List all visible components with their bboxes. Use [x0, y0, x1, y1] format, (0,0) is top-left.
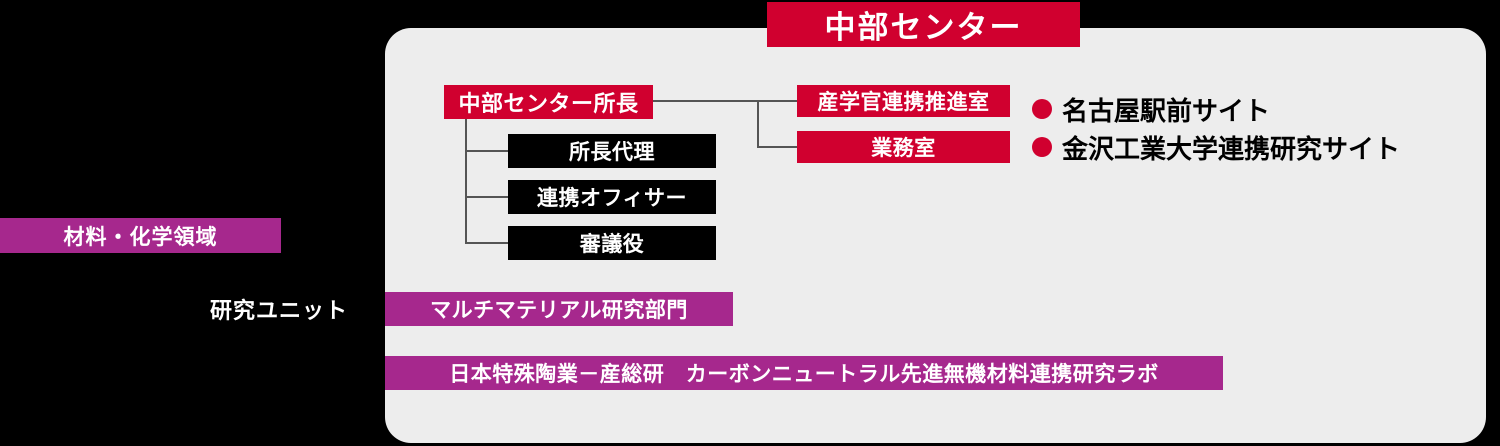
- unit-box-carbon-neutral-collaboration-lab[interactable]: 日本特殊陶業－産総研 カーボンニュートラル先進無機材料連携研究ラボ: [385, 356, 1223, 390]
- org-box-councillor[interactable]: 審議役: [508, 226, 716, 260]
- org-box-liaison-officer[interactable]: 連携オフィサー: [508, 180, 716, 214]
- connector-to-deputy: [465, 150, 509, 152]
- connector-to-councillor: [465, 242, 509, 244]
- filled-circle-icon: [1032, 99, 1052, 119]
- unit-box-multimaterial-research-department[interactable]: マルチマテリアル研究部門: [385, 292, 733, 326]
- center-title-banner: 中部センター: [767, 2, 1080, 47]
- connector-to-liaison: [465, 196, 509, 198]
- legend-label: 名古屋駅前サイト: [1062, 91, 1270, 128]
- research-unit-row-label: 研究ユニット: [0, 292, 348, 326]
- org-box-deputy-director[interactable]: 所長代理: [508, 134, 716, 168]
- connector-to-promotion-office: [652, 100, 799, 102]
- org-box-administration-office[interactable]: 業務室: [797, 131, 1010, 163]
- filled-circle-icon: [1032, 137, 1052, 157]
- domain-band-materials-chemistry: 材料・化学領域: [0, 218, 281, 253]
- legend-item-kanazawa-institute: 金沢工業大学連携研究サイト: [1032, 128, 1400, 166]
- connector-director-trunk: [465, 118, 467, 244]
- org-box-director[interactable]: 中部センター所長: [444, 85, 653, 119]
- legend-label: 金沢工業大学連携研究サイト: [1062, 129, 1400, 166]
- org-box-industry-academia-promotion-office[interactable]: 産学官連携推進室: [797, 85, 1010, 117]
- site-legend: 名古屋駅前サイト 金沢工業大学連携研究サイト: [1032, 90, 1400, 166]
- legend-item-nagoya-station: 名古屋駅前サイト: [1032, 90, 1400, 128]
- connector-right-trunk: [757, 100, 759, 147]
- connector-to-admin-office: [757, 146, 799, 148]
